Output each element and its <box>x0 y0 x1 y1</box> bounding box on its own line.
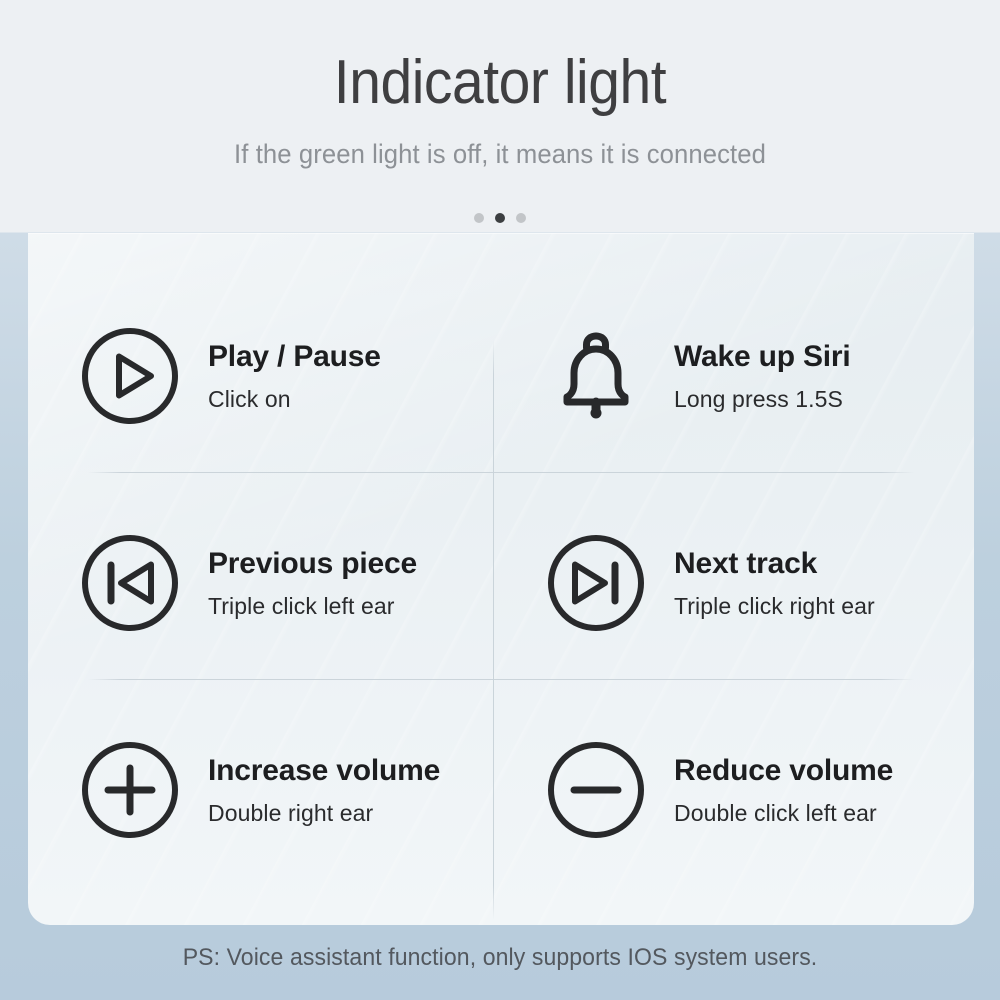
grid-horizontal-divider-1 <box>88 472 914 473</box>
control-item-reduce-volume[interactable]: Reduce volume Double click left ear <box>540 700 974 880</box>
control-subtitle: Long press 1.5S <box>674 375 851 412</box>
footer-note: PS: Voice assistant function, only suppo… <box>20 944 980 972</box>
control-title: Wake up Siri <box>674 340 851 375</box>
next-track-icon <box>540 527 652 639</box>
control-text-increase-volume: Increase volume Double right ear <box>186 754 440 826</box>
control-subtitle: Click on <box>208 375 381 412</box>
grid-horizontal-divider-2 <box>88 679 914 680</box>
promo-page: Indicator light If the green light is of… <box>0 0 1000 1000</box>
controls-grid: Play / Pause Click on Wake up Siri <box>28 233 974 925</box>
control-text-next-track: Next track Triple click right ear <box>652 547 875 619</box>
control-title: Previous piece <box>208 547 417 582</box>
control-title: Next track <box>674 547 875 582</box>
control-title: Increase volume <box>208 754 440 789</box>
pagination-dot-2[interactable] <box>495 213 505 223</box>
control-item-wake-up-siri[interactable]: Wake up Siri Long press 1.5S <box>540 286 974 466</box>
control-item-next-track[interactable]: Next track Triple click right ear <box>540 493 974 673</box>
pagination-dot-3[interactable] <box>516 213 526 223</box>
play-pause-icon <box>74 320 186 432</box>
bell-icon <box>540 320 652 432</box>
control-text-play-pause: Play / Pause Click on <box>186 340 381 412</box>
control-subtitle: Triple click right ear <box>674 582 875 619</box>
control-text-previous-piece: Previous piece Triple click left ear <box>186 547 417 619</box>
previous-track-icon <box>74 527 186 639</box>
control-item-increase-volume[interactable]: Increase volume Double right ear <box>74 700 514 880</box>
control-subtitle: Triple click left ear <box>208 582 417 619</box>
pagination-dot-1[interactable] <box>474 213 484 223</box>
page-subtitle: If the green light is off, it means it i… <box>25 117 975 170</box>
controls-card: Play / Pause Click on Wake up Siri <box>28 233 974 925</box>
control-subtitle: Double right ear <box>208 789 440 826</box>
plus-circle-icon <box>74 734 186 846</box>
control-item-previous-piece[interactable]: Previous piece Triple click left ear <box>74 493 514 673</box>
carousel-pagination[interactable] <box>0 213 1000 223</box>
control-title: Play / Pause <box>208 340 381 375</box>
page-header: Indicator light If the green light is of… <box>0 0 1000 232</box>
control-text-wake-up-siri: Wake up Siri Long press 1.5S <box>652 340 851 412</box>
minus-circle-icon <box>540 734 652 846</box>
page-title: Indicator light <box>40 0 960 117</box>
control-subtitle: Double click left ear <box>674 789 893 826</box>
control-title: Reduce volume <box>674 754 893 789</box>
control-item-play-pause[interactable]: Play / Pause Click on <box>74 286 514 466</box>
control-text-reduce-volume: Reduce volume Double click left ear <box>652 754 893 826</box>
